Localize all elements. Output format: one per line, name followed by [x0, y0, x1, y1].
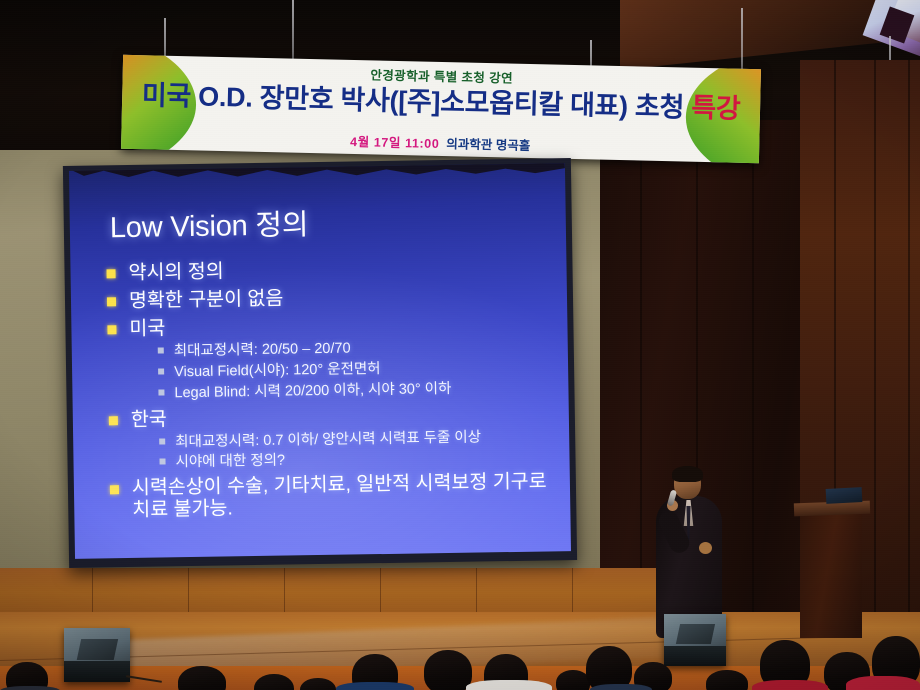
- slide-bullet-text: 명확한 구분이 없음: [129, 288, 284, 312]
- subbullet-square-icon: [158, 347, 164, 353]
- slide-subbullet-text: Legal Blind: 시력 20/200 이하, 시야 30° 이하: [174, 381, 451, 401]
- slide-subbullet-text: Visual Field(시야): 120° 운전면허: [174, 361, 381, 380]
- audience-shoulders: [466, 680, 552, 690]
- banner-title-main: 미국 O.D. 장만호 박사([주]소모옵티칼 대표) 초청: [142, 80, 692, 122]
- slide-subbullet: 시야에 대한 정의?: [159, 448, 555, 473]
- slide-bullet-text: 시력손상이 수술, 기타치료, 일반적 시력보정 기구로 치료 불가능.: [132, 472, 557, 522]
- audience-shoulders: [0, 686, 60, 690]
- speaker-base: [664, 646, 726, 666]
- slide-subbullet-list: 최대교정시력: 20/50 – 20/70 Visual Field(시야): …: [130, 336, 555, 403]
- bullet-square-icon: [107, 297, 116, 306]
- slide-bullet: 명확한 구분이 없음: [107, 283, 553, 313]
- curtain-fold: [908, 60, 910, 640]
- stage-monitor-speaker: [64, 628, 130, 682]
- slide-subbullet: Legal Blind: 시력 20/200 이하, 시야 30° 이하: [158, 378, 554, 403]
- speaker-grille: [676, 624, 715, 644]
- bullet-square-icon: [109, 416, 118, 425]
- subbullet-square-icon: [159, 438, 165, 444]
- subbullet-square-icon: [158, 389, 164, 395]
- lectern: [800, 508, 862, 638]
- banner-venue: 의과학관 명곡홀: [446, 137, 530, 153]
- curtain-fold: [752, 120, 754, 640]
- subbullet-square-icon: [158, 368, 164, 374]
- bullet-square-icon: [107, 269, 116, 278]
- banner-title-accent: 특강: [691, 93, 741, 124]
- audience-shoulders: [846, 676, 920, 690]
- stage-monitor-speaker: [664, 614, 726, 666]
- slide-title: Low Vision 정의: [109, 197, 552, 246]
- audience-head: [424, 650, 472, 690]
- slide-bullet: 미국 최대교정시력: 20/50 – 20/70 Visual Field(시야…: [107, 311, 554, 404]
- lectern-microphone-icon: [826, 487, 863, 504]
- bullet-square-icon: [110, 485, 119, 494]
- speaker-grille: [76, 639, 117, 660]
- slide-bullet-text: 한국: [131, 408, 167, 431]
- slide-bullet: 한국 최대교정시력: 0.7 이하/ 양안시력 시력표 두줄 이상 시야에 대한…: [109, 402, 556, 474]
- presenter: [652, 468, 734, 638]
- slide-bullet-text: 미국: [129, 317, 165, 340]
- audience-head: [178, 666, 226, 690]
- slide-subbullet-text: 최대교정시력: 20/50 – 20/70: [174, 341, 351, 360]
- audience-shoulders: [752, 680, 828, 690]
- projection-screen-frame: Low Vision 정의 약시의 정의 명확한 구분이 없음 미국: [63, 158, 577, 568]
- speaker-base: [64, 661, 130, 682]
- event-banner: 안경광학과 특별 초청 강연 미국 O.D. 장만호 박사([주]소모옵티칼 대…: [121, 55, 761, 163]
- slide-subbullet-text: 최대교정시력: 0.7 이하/ 양안시력 시력표 두줄 이상: [175, 429, 481, 450]
- presenter-hair: [672, 466, 703, 482]
- audience-head: [706, 670, 748, 690]
- audience-shoulders: [336, 682, 414, 690]
- banner-datetime: 4월 17일 11:00: [350, 135, 440, 151]
- presenter-other-hand: [699, 542, 712, 554]
- bullet-square-icon: [107, 325, 116, 334]
- slide-subbullet-text: 시야에 대한 정의?: [175, 453, 285, 471]
- subbullet-square-icon: [159, 459, 165, 465]
- curtain-fold: [640, 120, 642, 640]
- slide-bullet-list: 약시의 정의 명확한 구분이 없음 미국 최대교정시력: 20/50 – 20/…: [96, 255, 556, 521]
- curtain-fold: [874, 60, 876, 640]
- projected-slide: Low Vision 정의 약시의 정의 명확한 구분이 없음 미국: [69, 163, 571, 559]
- screen-top-edge: [69, 163, 565, 181]
- audience-shoulders: [590, 684, 652, 690]
- projection-screen-wrap: Low Vision 정의 약시의 정의 명확한 구분이 없음 미국: [63, 158, 577, 568]
- slide-subbullet-list: 최대교정시력: 0.7 이하/ 양안시력 시력표 두줄 이상 시야에 대한 정의…: [131, 427, 556, 473]
- slide-bullet: 시력손상이 수술, 기타치료, 일반적 시력보정 기구로 치료 불가능.: [110, 472, 557, 522]
- slide-bullet: 약시의 정의: [106, 255, 552, 285]
- audience-head: [556, 670, 590, 690]
- lecture-hall-photo: 안경광학과 특별 초청 강연 미국 O.D. 장만호 박사([주]소모옵티칼 대…: [0, 0, 920, 690]
- slide-bullet-text: 약시의 정의: [128, 261, 223, 284]
